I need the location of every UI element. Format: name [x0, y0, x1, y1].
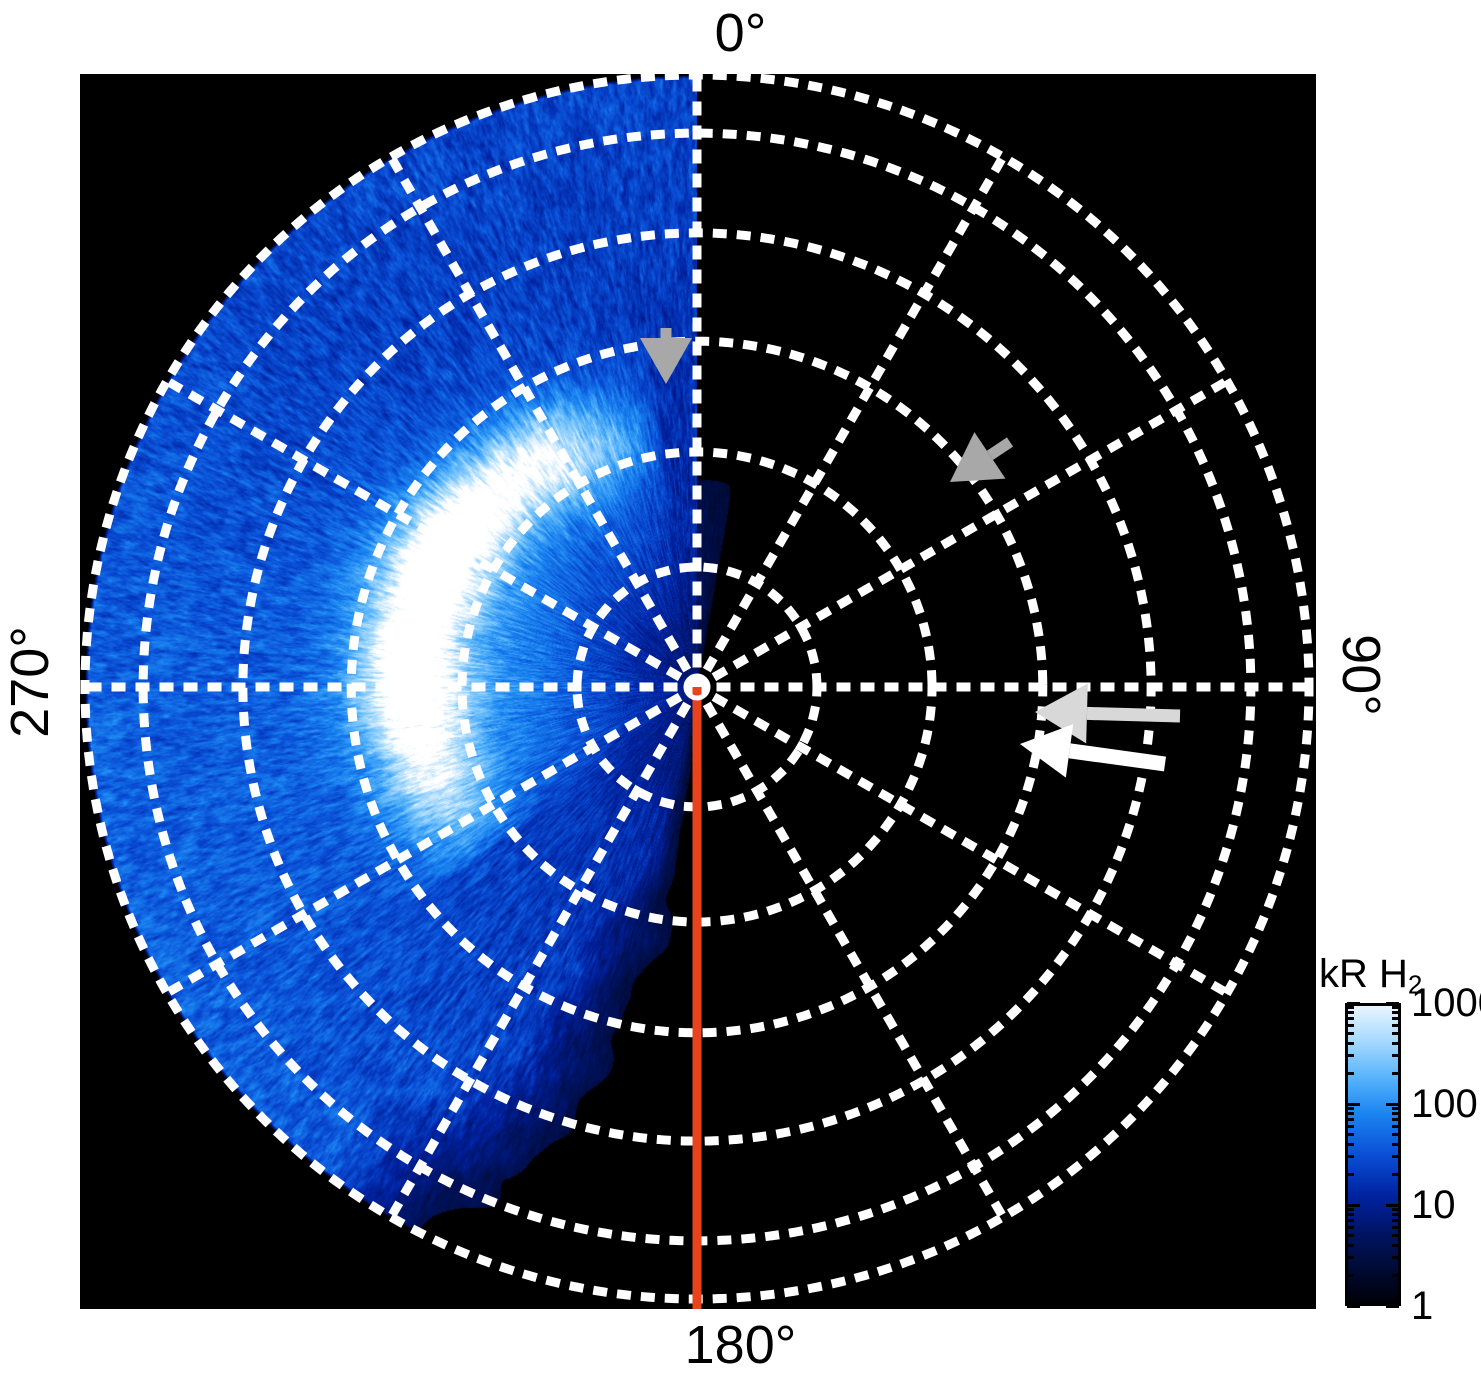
colorbar-tick: [1392, 1118, 1399, 1121]
colorbar-tick: [1347, 1204, 1360, 1207]
arrow-head: [640, 338, 692, 384]
colorbar-tick-label: 1000: [1411, 983, 1481, 1023]
colorbar-tick: [1347, 1226, 1354, 1229]
colorbar-tick: [1347, 1274, 1354, 1277]
colorbar-tick: [1392, 1208, 1399, 1211]
colorbar-tick: [1347, 1256, 1354, 1259]
colorbar-tick: [1392, 1155, 1399, 1158]
colorbar-tick: [1392, 1143, 1399, 1146]
colorbar-tick: [1347, 1107, 1354, 1110]
colorbar-tick: [1392, 1133, 1399, 1136]
colorbar-tick-label: 10: [1411, 1185, 1456, 1225]
colorbar-tick: [1347, 1042, 1354, 1045]
colorbar-tick: [1347, 1024, 1354, 1027]
colorbar-tick: [1347, 1006, 1354, 1009]
arrow-shaft: [1087, 713, 1180, 716]
colorbar-tick: [1392, 1173, 1399, 1176]
colorbar-tick: [1347, 1002, 1360, 1005]
polar-emission-arrow: [640, 328, 692, 384]
polar-plot-area: [80, 74, 1316, 1309]
angle-label-180: 180°: [0, 1318, 1481, 1372]
angle-label-90: 90°: [1334, 595, 1388, 755]
colorbar-tick-label: 100: [1411, 1084, 1478, 1124]
colorbar-tick: [1347, 1072, 1354, 1075]
colorbar-tick: [1386, 1103, 1399, 1106]
arrow-shaft: [1070, 751, 1165, 764]
colorbar-tick: [1386, 1002, 1399, 1005]
arrow-head: [1020, 724, 1073, 777]
colorbar-tick: [1392, 1213, 1399, 1216]
colorbar-tick: [1347, 1208, 1354, 1211]
colorbar-tick: [1392, 1072, 1399, 1075]
colorbar-tick: [1392, 1006, 1399, 1009]
colorbar-tick: [1347, 1143, 1354, 1146]
colorbar-tick-label: 1: [1411, 1286, 1433, 1326]
colorbar-tick: [1392, 1226, 1399, 1229]
colorbar-tick: [1347, 1155, 1354, 1158]
colorbar-tick: [1392, 1032, 1399, 1035]
colorbar-title-text: kR H: [1319, 952, 1408, 996]
colorbar-title: kR H2: [1319, 952, 1422, 1001]
figure-root: 0° 90° 180° 270° kR H2 1000100101: [0, 0, 1481, 1384]
colorbar-tick: [1347, 1125, 1354, 1128]
colorbar-tick: [1392, 1219, 1399, 1222]
colorbar-tick: [1347, 1011, 1354, 1014]
colorbar: kR H2 1000100101: [1319, 952, 1481, 1332]
angle-label-0: 0°: [0, 6, 1481, 60]
colorbar-tick: [1392, 1125, 1399, 1128]
colorbar-tick: [1392, 1054, 1399, 1057]
colorbar-tick: [1392, 1274, 1399, 1277]
angle-label-270: 270°: [3, 602, 57, 762]
meridian-line: [391, 687, 697, 1217]
colorbar-tick: [1347, 1219, 1354, 1222]
colorbar-tick: [1347, 1305, 1360, 1308]
colorbar-tick: [1347, 1173, 1354, 1176]
colorbar-tick: [1392, 1112, 1399, 1115]
colorbar-tick: [1347, 1133, 1354, 1136]
colorbar-tick: [1392, 1107, 1399, 1110]
colorbar-tick: [1386, 1204, 1399, 1207]
colorbar-tick: [1347, 1017, 1354, 1020]
colorbar-tick: [1347, 1213, 1354, 1216]
colorbar-tick: [1347, 1112, 1354, 1115]
colorbar-tick: [1392, 1256, 1399, 1259]
colorbar-tick: [1392, 1017, 1399, 1020]
colorbar-tick: [1386, 1305, 1399, 1308]
colorbar-tick: [1392, 1244, 1399, 1247]
colorbar-tick: [1347, 1054, 1354, 1057]
colorbar-tick: [1347, 1118, 1354, 1121]
graticule-overlay: [80, 74, 1316, 1309]
colorbar-tick: [1392, 1024, 1399, 1027]
colorbar-tick: [1392, 1234, 1399, 1237]
colorbar-tick: [1347, 1032, 1354, 1035]
colorbar-tick: [1392, 1042, 1399, 1045]
colorbar-tick: [1392, 1011, 1399, 1014]
arrow-shaft: [990, 442, 1010, 455]
meridian-line: [167, 687, 697, 993]
colorbar-tick: [1347, 1234, 1354, 1237]
colorbar-tick: [1347, 1244, 1354, 1247]
colorbar-tick: [1347, 1103, 1360, 1106]
meridian-line: [697, 687, 1003, 1217]
